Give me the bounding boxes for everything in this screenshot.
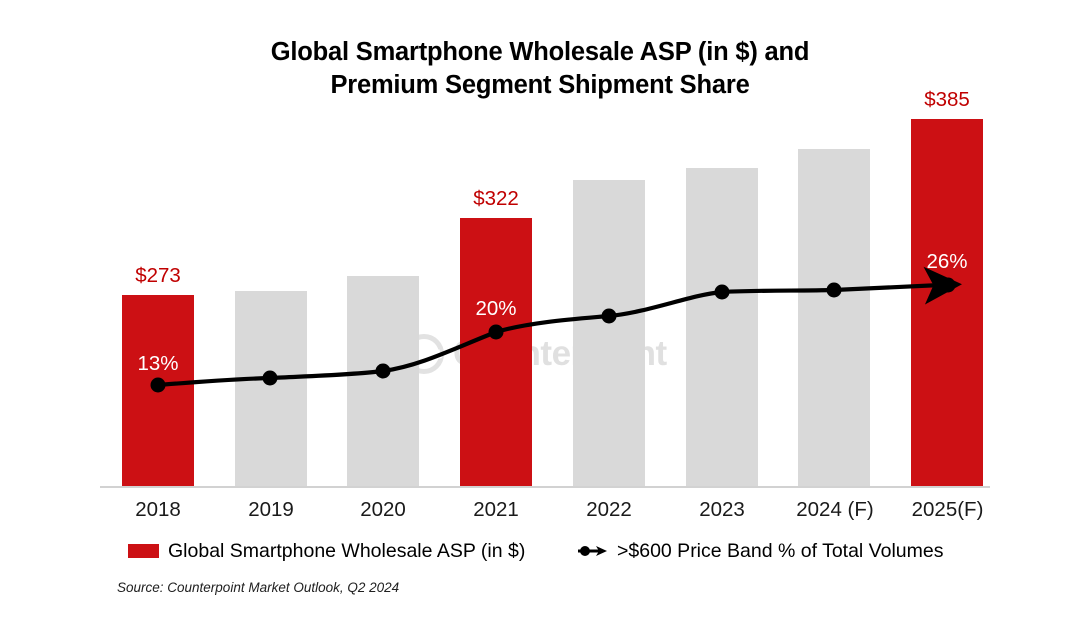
line-value-label-2025: 26% <box>901 250 993 274</box>
legend-label-asp: Global Smartphone Wholesale ASP (in $) <box>168 541 525 561</box>
bar-2023[interactable] <box>686 168 758 486</box>
legend-label-price-band: >$600 Price Band % of Total Volumes <box>617 541 943 561</box>
bar-2025[interactable] <box>911 119 983 486</box>
x-axis-baseline <box>100 486 990 488</box>
line-value-label-2018: 13% <box>112 352 204 376</box>
x-axis-label-2025: 2025(F) <box>895 498 1000 522</box>
bar-value-label-2025: $385 <box>901 88 993 112</box>
bar-2020[interactable] <box>347 276 419 486</box>
legend-line-arrow-icon <box>577 544 608 558</box>
x-axis-label-2020: 2020 <box>337 498 429 522</box>
x-axis-label-2022: 2022 <box>563 498 655 522</box>
source-note: Source: Counterpoint Market Outlook, Q2 … <box>117 580 399 595</box>
bar-2018[interactable] <box>122 295 194 486</box>
bar-2019[interactable] <box>235 291 307 486</box>
bar-value-label-2021: $322 <box>450 187 542 211</box>
bar-2021[interactable] <box>460 218 532 486</box>
x-axis-label-2024: 2024 (F) <box>780 498 890 522</box>
chart-legend: Global Smartphone Wholesale ASP (in $) >… <box>0 538 1080 568</box>
bar-value-label-2018: $273 <box>112 264 204 288</box>
chart-canvas: Global Smartphone Wholesale ASP (in $) a… <box>0 0 1080 643</box>
bar-2024[interactable] <box>798 149 870 486</box>
bar-2022[interactable] <box>573 180 645 486</box>
legend-red-swatch-icon <box>128 544 159 558</box>
x-axis-label-2021: 2021 <box>450 498 542 522</box>
x-axis-label-2023: 2023 <box>676 498 768 522</box>
x-axis-label-2018: 2018 <box>112 498 204 522</box>
legend-item-asp[interactable]: Global Smartphone Wholesale ASP (in $) <box>128 541 525 561</box>
x-axis-label-2019: 2019 <box>225 498 317 522</box>
legend-item-price-band[interactable]: >$600 Price Band % of Total Volumes <box>577 541 943 561</box>
line-value-label-2021: 20% <box>450 297 542 321</box>
